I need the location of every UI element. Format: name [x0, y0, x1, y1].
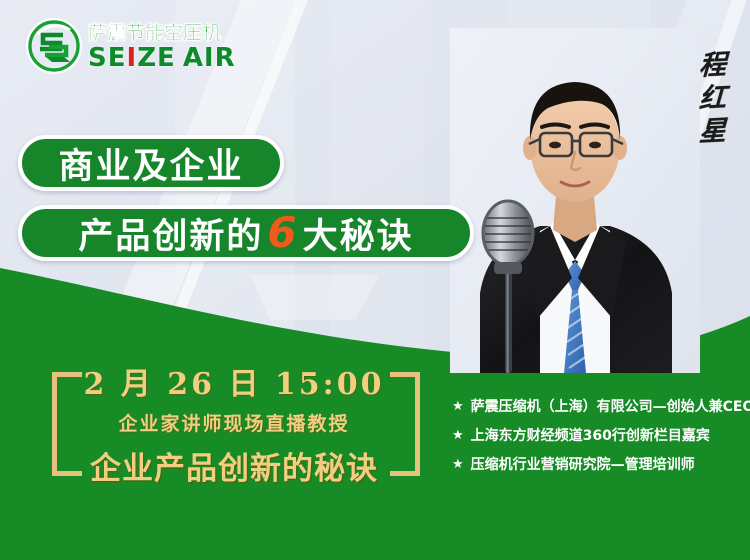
list-item: ★ 上海东方财经频道360行创新栏目嘉宾 — [452, 425, 750, 445]
headline-pill-two: 产品创新的6大秘诀 — [18, 205, 474, 261]
credential-text: 压缩机行业营销研究院—管理培训师 — [471, 454, 695, 474]
headline-line-2-prefix: 产品创新的 — [78, 208, 263, 259]
star-icon: ★ — [452, 458, 464, 471]
logo-en-air: AIR — [183, 45, 236, 71]
event-info-block: 2 月 26 日 15:00 企业家讲师现场直播教授 企业产品创新的秘诀 — [58, 366, 410, 484]
star-icon: ★ — [452, 429, 464, 442]
seize-air-logo-icon — [26, 18, 82, 74]
list-item: ★ 压缩机行业营销研究院—管理培训师 — [452, 454, 750, 474]
event-date-time: 2 月 26 日 15:00 — [84, 366, 385, 404]
speaker-name-char-2: 红 — [698, 84, 726, 112]
headline-line-2-suffix: 大秘诀 — [303, 208, 414, 259]
logo-en-se: SE — [88, 45, 127, 71]
credentials-list: ★ 萨震压缩机（上海）有限公司—创始人兼CEO ★ 上海东方财经频道360行创新… — [452, 396, 750, 474]
headline-line-2: 产品创新的6大秘诀 — [78, 208, 413, 259]
logo-en-ze: ZE — [137, 45, 176, 71]
speaker-name-vertical: 程 红 星 — [699, 52, 726, 145]
credential-text: 上海东方财经频道360行创新栏目嘉宾 — [471, 425, 710, 445]
brand-logo[interactable]: 萨震节能空压机 SEIZEAIR — [26, 18, 236, 74]
logo-en-i: I — [127, 45, 138, 71]
speaker-photo — [450, 28, 700, 373]
speaker-name-char-3: 星 — [698, 117, 726, 145]
logo-chinese-name: 萨震节能空压机 — [88, 24, 236, 43]
event-subtitle: 企业家讲师现场直播教授 — [118, 409, 349, 436]
star-icon: ★ — [452, 400, 464, 413]
list-item: ★ 萨震压缩机（上海）有限公司—创始人兼CEO — [452, 396, 750, 416]
headline-number-six: 6 — [263, 212, 302, 254]
headline-line-1: 商业及企业 — [58, 138, 243, 189]
logo-text-block: 萨震节能空压机 SEIZEAIR — [88, 22, 236, 71]
speaker-name-char-1: 程 — [698, 51, 726, 79]
headline-pill-one: 商业及企业 — [18, 135, 284, 191]
credential-text: 萨震压缩机（上海）有限公司—创始人兼CEO — [471, 396, 750, 416]
event-topic: 企业产品创新的秘诀 — [90, 443, 378, 488]
logo-english-name: SEIZEAIR — [88, 45, 236, 71]
promo-poster: 萨震节能空压机 SEIZEAIR 程 红 星 商业及企业 产品创新的6大秘诀 2… — [0, 0, 750, 560]
